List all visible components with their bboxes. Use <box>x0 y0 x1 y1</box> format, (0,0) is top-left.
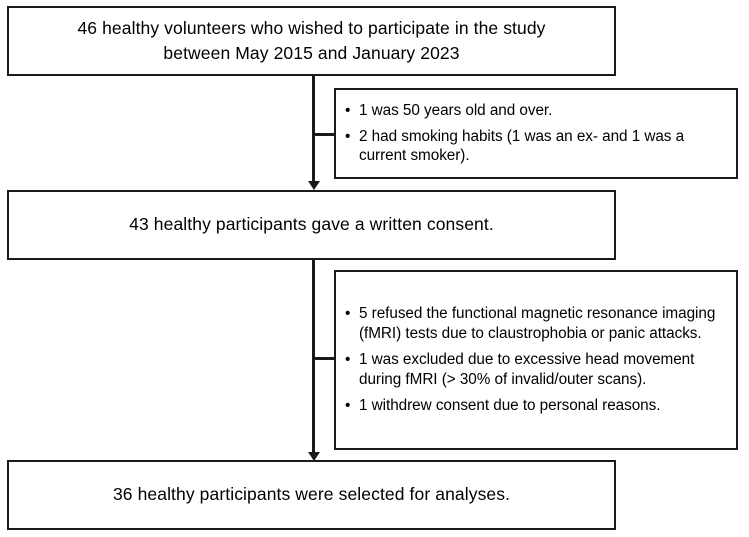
exclusion-item: • 1 withdrew consent due to personal rea… <box>343 396 727 416</box>
bullet-icon: • <box>345 396 350 416</box>
connector-consented-to-analysed-line <box>312 260 315 452</box>
exclusion-item-text: 5 refused the functional magnetic resona… <box>359 305 715 342</box>
exclusion-item-text: 1 was 50 years old and over. <box>359 102 552 119</box>
node-enrolled-volunteers-text: 46 healthy volunteers who wished to part… <box>19 16 604 67</box>
exclusion-item: • 1 was 50 years old and over. <box>343 101 727 121</box>
node-consented-participants-text: 43 healthy participants gave a written c… <box>19 212 604 237</box>
participant-flow-diagram: 46 healthy volunteers who wished to part… <box>0 0 749 537</box>
exclusion-item-text: 1 withdrew consent due to personal reaso… <box>359 397 660 414</box>
exclusion-box-1: • 1 was 50 years old and over. • 2 had s… <box>334 88 738 179</box>
bullet-icon: • <box>345 304 350 324</box>
connector-enrolled-to-consented-arrowhead <box>308 181 320 190</box>
exclusion-item: • 1 was excluded due to excessive head m… <box>343 350 727 390</box>
exclusion-list-1: • 1 was 50 years old and over. • 2 had s… <box>343 101 727 167</box>
node-analysed-participants-text: 36 healthy participants were selected fo… <box>19 482 604 507</box>
connector-branch-to-exclusion-2 <box>312 357 335 360</box>
node-analysed-participants: 36 healthy participants were selected fo… <box>7 460 616 530</box>
exclusion-box-2: • 5 refused the functional magnetic reso… <box>334 270 738 450</box>
connector-enrolled-to-consented-line <box>312 76 315 181</box>
bullet-icon: • <box>345 127 350 147</box>
connector-branch-to-exclusion-1 <box>312 133 335 136</box>
bullet-icon: • <box>345 350 350 370</box>
exclusion-item: • 5 refused the functional magnetic reso… <box>343 304 727 344</box>
exclusion-item-text: 2 had smoking habits (1 was an ex- and 1… <box>359 128 684 165</box>
exclusion-item: • 2 had smoking habits (1 was an ex- and… <box>343 127 727 167</box>
exclusion-list-2: • 5 refused the functional magnetic reso… <box>343 304 727 415</box>
node-consented-participants: 43 healthy participants gave a written c… <box>7 190 616 260</box>
node-enrolled-volunteers: 46 healthy volunteers who wished to part… <box>7 6 616 76</box>
exclusion-item-text: 1 was excluded due to excessive head mov… <box>359 351 694 388</box>
bullet-icon: • <box>345 101 350 121</box>
